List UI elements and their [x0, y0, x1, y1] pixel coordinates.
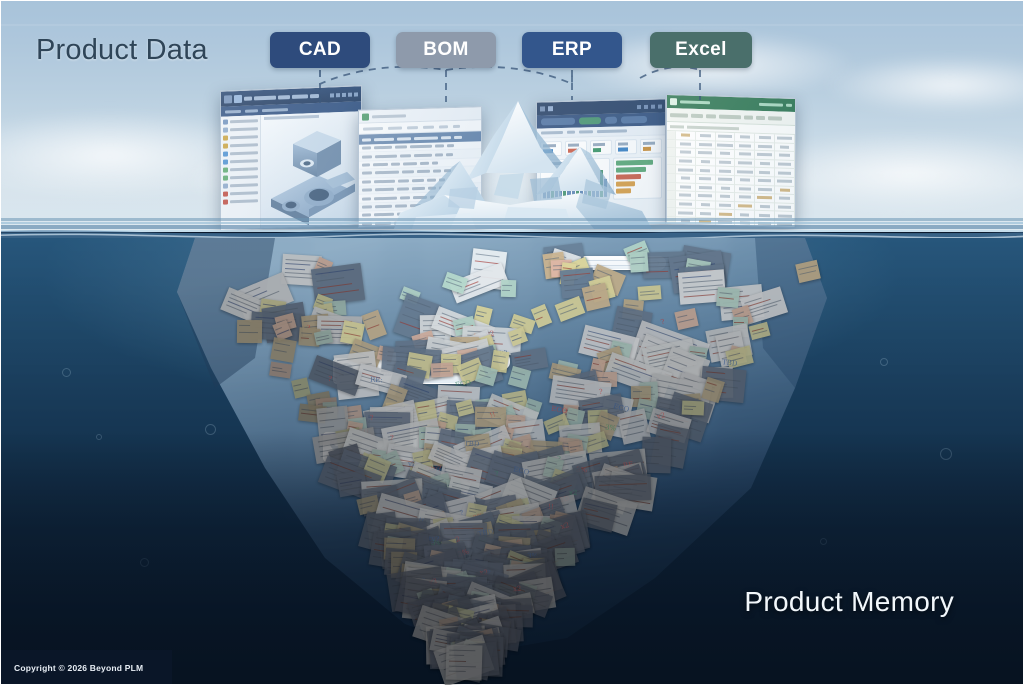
artifact-text-line	[659, 402, 674, 406]
artifact-text-line	[275, 342, 290, 346]
excel-rows[interactable]	[667, 131, 795, 228]
memory-artifact	[749, 322, 771, 340]
memory-artifact	[675, 308, 700, 330]
artifact-text-line	[340, 479, 361, 484]
excel-window[interactable]	[666, 94, 796, 228]
artifact-text-line	[683, 279, 723, 283]
artifact-text-line	[294, 384, 301, 387]
artifact-text-line	[449, 655, 464, 656]
row-header	[667, 157, 676, 166]
memory-artifact	[361, 310, 387, 341]
artifact-text-line	[343, 332, 360, 336]
artifact-text-line	[346, 410, 357, 413]
artifact-text-line	[360, 505, 373, 509]
artifact-text-line	[502, 285, 512, 286]
artifact-text-line	[301, 413, 317, 416]
artifact-text-line	[646, 257, 669, 259]
row-header	[667, 191, 676, 200]
iceberg-tip	[390, 95, 660, 235]
row-header	[667, 183, 676, 192]
artifact-text-line	[708, 382, 717, 386]
copyright-text: Copyright © 2026 Beyond PLM	[14, 663, 143, 673]
badge-cad[interactable]: CAD	[270, 32, 370, 68]
artifact-text-line	[599, 483, 647, 486]
artifact-text-line	[633, 391, 643, 392]
artifact-text-line	[502, 290, 510, 291]
artifact-text-line	[493, 362, 505, 365]
row-header	[667, 131, 676, 140]
memory-artifact	[795, 260, 820, 283]
artifact-text-line	[640, 293, 659, 296]
artifact-text-line	[640, 403, 652, 407]
artifact-text-line	[799, 271, 816, 276]
artifact-text-line	[477, 310, 487, 313]
badge-label: BOM	[423, 39, 469, 61]
artifact-text-line	[475, 254, 499, 258]
artifact-text-line	[433, 368, 447, 370]
artifact-text-line	[682, 275, 711, 278]
artifact-text-line	[563, 427, 592, 431]
artifact-text-line	[512, 337, 521, 341]
artifact-text-line	[344, 325, 356, 328]
infographic-canvas: 3%!!3%ECORE:?Qty?3%?x2??Qty?v2TBDv2x2!!?…	[0, 0, 1024, 685]
artifact-text-line	[317, 283, 352, 289]
cad-window[interactable]	[220, 85, 362, 230]
artifact-text-line	[275, 327, 281, 330]
artifact-text-line	[341, 484, 353, 487]
artifact-text-line	[364, 316, 376, 321]
row-header	[667, 165, 676, 174]
artifact-text-line	[443, 528, 482, 529]
handwritten-mark: RE:	[370, 376, 383, 385]
artifact-text-line	[683, 284, 723, 288]
artifact-text-line	[321, 325, 341, 326]
memory-artifact	[716, 287, 740, 308]
handwritten-mark: 3%	[605, 423, 617, 433]
artifact-text-line	[316, 277, 343, 282]
cad-part-model	[263, 123, 362, 230]
artifact-text-line	[462, 370, 477, 377]
artifact-text-line	[448, 502, 467, 508]
artifact-text-line	[277, 329, 289, 335]
artifact-text-line	[387, 397, 397, 402]
page-title-below-water: Product Memory	[744, 586, 954, 618]
memory-artifact	[682, 400, 705, 415]
handwritten-mark: v2	[656, 411, 666, 422]
artifact-text-line	[679, 318, 695, 323]
artifact-text-line	[752, 331, 767, 336]
artifact-text-line	[684, 405, 696, 407]
artifact-text-line	[387, 543, 407, 545]
artifact-text-line	[239, 332, 258, 333]
bom-app-icon	[362, 113, 369, 120]
badge-label: CAD	[299, 39, 341, 61]
artifact-text-line	[619, 311, 642, 317]
memory-artifact	[271, 337, 298, 363]
artifact-text-line	[476, 315, 484, 318]
cad-body	[221, 111, 361, 229]
row-header	[667, 140, 676, 149]
artifact-text-line	[728, 353, 740, 357]
artifact-text-line	[593, 363, 599, 365]
artifact-text-line	[498, 528, 531, 530]
artifact-text-line	[640, 291, 655, 293]
artifact-text-line	[320, 427, 334, 429]
artifact-text-line	[621, 414, 644, 420]
artifact-text-line	[469, 510, 477, 512]
artifact-text-line	[300, 337, 309, 339]
artifact-text-line	[511, 377, 521, 381]
artifact-text-line	[563, 273, 590, 277]
artifact-text-line	[719, 298, 734, 301]
memory-artifact	[237, 319, 263, 342]
artifact-text-line	[684, 294, 716, 298]
memory-artifact	[501, 280, 517, 298]
artifact-text-line	[670, 359, 687, 366]
artifact-text-line	[600, 415, 614, 421]
artifact-text-line	[315, 269, 353, 275]
artifact-text-line	[405, 307, 424, 315]
artifact-text-line	[719, 292, 732, 294]
handwritten-mark: ?	[327, 375, 332, 384]
handwritten-mark: ?	[370, 414, 375, 423]
artifact-text-line	[547, 467, 554, 470]
artifact-text-line	[370, 458, 385, 465]
memory-artifact	[555, 296, 585, 322]
artifact-text-line	[317, 338, 329, 342]
artifact-text-line	[560, 308, 577, 315]
artifact-text-line	[513, 371, 525, 375]
excel-grid[interactable]	[667, 131, 795, 227]
artifact-text-line	[319, 412, 333, 414]
badge-label: Excel	[675, 39, 727, 61]
artifact-text-line	[645, 441, 660, 442]
artifact-text-line	[478, 374, 490, 378]
row-header	[667, 148, 676, 157]
artifact-text-line	[319, 418, 344, 422]
artifact-text-line	[631, 262, 645, 264]
artifact-text-line	[443, 534, 465, 535]
artifact-text-line	[584, 508, 598, 512]
artifact-text-line	[274, 349, 287, 352]
artifact-text-line	[600, 488, 631, 490]
artifact-text-line	[448, 671, 465, 672]
handwritten-mark: !!	[548, 503, 554, 512]
artifact-text-line	[646, 271, 668, 273]
memory-artifact	[581, 282, 610, 311]
memory-artifact	[507, 366, 530, 390]
artifact-text-line	[625, 304, 639, 307]
artifact-text-line	[684, 408, 694, 409]
cad-3d-viewport[interactable]	[261, 111, 361, 228]
artifact-text-line	[599, 480, 624, 482]
memory-artifact	[638, 285, 662, 301]
artifact-text-line	[494, 355, 505, 358]
artifact-text-line	[622, 419, 645, 425]
artifact-text-line	[624, 431, 644, 436]
artifact-text-line	[623, 425, 644, 431]
artifact-text-line	[449, 650, 475, 652]
artifact-text-line	[556, 558, 564, 559]
artifact-text-line	[568, 413, 576, 416]
memory-artifact	[431, 362, 453, 376]
row-header	[667, 200, 676, 209]
artifact-text-line	[301, 333, 312, 335]
artifact-text-line	[410, 358, 425, 362]
artifact-text-line	[286, 263, 311, 266]
artifact-text-line	[286, 259, 318, 262]
artifact-text-line	[533, 308, 545, 314]
artifact-text-line	[556, 553, 566, 554]
artifact-text-line	[295, 388, 309, 392]
copyright-bar: Copyright © 2026 Beyond PLM	[0, 650, 172, 685]
artifact-text-line	[705, 372, 725, 375]
artifact-text-line	[443, 359, 456, 360]
artifact-text-line	[239, 324, 250, 325]
artifact-text-line	[548, 461, 557, 464]
artifact-text-line	[570, 445, 581, 448]
artifact-text-line	[418, 412, 428, 415]
artifact-text-line	[735, 311, 745, 315]
handwritten-mark: ?	[390, 434, 394, 443]
page-title-above-water: Product Data	[36, 34, 208, 67]
artifact-text-line	[536, 316, 543, 320]
artifact-text-line	[226, 304, 247, 313]
artifact-text-line	[798, 265, 817, 270]
artifact-text-line	[367, 324, 379, 329]
artifact-text-line	[584, 290, 594, 293]
artifact-text-line	[564, 283, 587, 286]
artifact-text-line	[407, 299, 430, 308]
artifact-text-line	[480, 370, 488, 373]
badge-excel[interactable]: Excel	[650, 32, 752, 68]
artifact-text-line	[285, 267, 305, 269]
artifact-text-line	[272, 370, 288, 373]
cad-grid-icon[interactable]	[234, 94, 242, 102]
badge-bom[interactable]: BOM	[396, 32, 496, 68]
badge-erp[interactable]: ERP	[522, 32, 622, 68]
artifact-text-line	[706, 388, 715, 392]
artifact-text-line	[417, 405, 429, 408]
artifact-text-line	[433, 370, 451, 372]
artifact-text-line	[631, 256, 645, 258]
artifact-text-line	[673, 352, 696, 362]
artifact-text-line	[586, 297, 601, 301]
memory-artifact	[442, 272, 469, 295]
artifact-text-line	[448, 661, 465, 662]
artifact-text-line	[660, 428, 682, 433]
artifact-text-line	[469, 507, 482, 510]
artifact-text-line	[390, 389, 402, 395]
cad-window-controls[interactable]	[330, 92, 358, 97]
artifact-text-line	[340, 477, 353, 480]
artifact-text-line	[414, 456, 423, 459]
artifact-text-line	[567, 419, 574, 422]
sky-streak	[0, 24, 1024, 26]
artifact-text-line	[337, 357, 369, 362]
memory-artifact	[445, 645, 482, 681]
artifact-text-line	[645, 448, 660, 449]
cad-feature-tree[interactable]	[221, 115, 261, 230]
artifact-text-line	[457, 429, 468, 431]
artifact-text-line	[442, 390, 473, 393]
artifact-text-line	[448, 666, 475, 668]
cad-menu-icon[interactable]	[224, 95, 232, 103]
artifact-text-line	[477, 418, 501, 419]
artifact-text-line	[571, 449, 577, 451]
memory-artifact	[629, 251, 648, 272]
badge-label: ERP	[552, 39, 592, 61]
artifact-text-line	[677, 315, 687, 318]
artifact-text-line	[644, 456, 663, 458]
memory-artifact	[269, 361, 292, 378]
artifact-text-line	[512, 424, 540, 429]
artifact-text-line	[618, 317, 635, 321]
artifact-text-line	[718, 337, 739, 342]
artifact-text-line	[563, 279, 578, 281]
row-header	[667, 174, 676, 183]
artifact-text-line	[272, 367, 283, 370]
artifact-text-line	[347, 414, 355, 416]
cad-title-text	[244, 93, 328, 100]
artifact-text-line	[528, 403, 536, 407]
memory-artifact	[555, 548, 575, 567]
